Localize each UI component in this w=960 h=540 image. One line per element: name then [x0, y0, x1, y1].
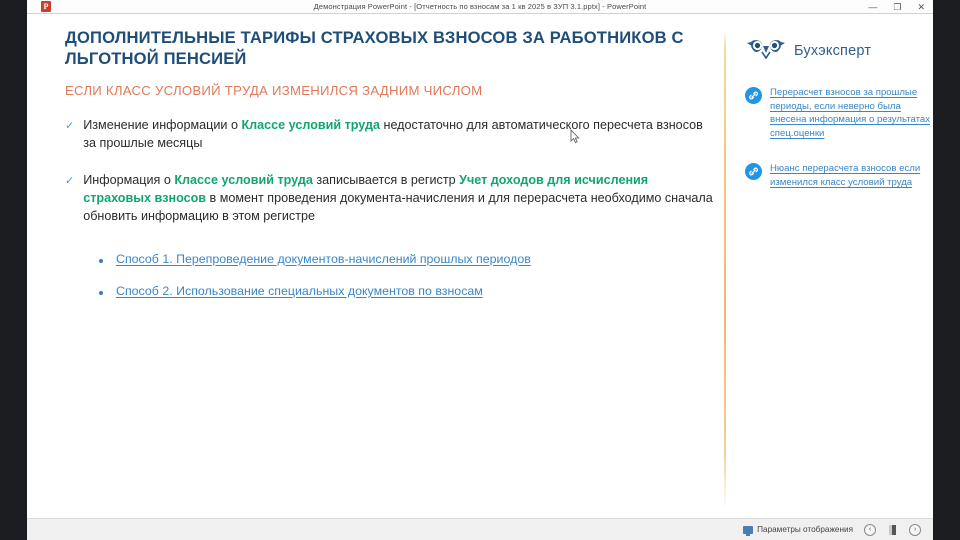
- display-options-label: Параметры отображения: [757, 525, 853, 534]
- status-bar: Параметры отображения ‹ ›: [27, 518, 933, 540]
- slide-link-item[interactable]: Способ 2. Использование специальных доку…: [99, 284, 715, 298]
- slide-title: ДОПОЛНИТЕЛЬНЫЕ ТАРИФЫ СТРАХОВЫХ ВЗНОСОВ …: [65, 27, 715, 69]
- sidebar-notes-list: Перерасчет взносов за прошлые периоды, е…: [745, 86, 931, 190]
- desktop-backdrop-left: [0, 0, 27, 540]
- link-chain-icon: [745, 163, 762, 180]
- slide-subtitle: ЕСЛИ КЛАСС УСЛОВИЙ ТРУДА ИЗМЕНИЛСЯ ЗАДНИ…: [65, 83, 715, 98]
- brand-block: Бухэксперт: [745, 37, 931, 64]
- bullet-list: ✓Изменение информации о Классе условий т…: [65, 117, 715, 225]
- window-title: Демонстрация PowerPoint - [Отчетность по…: [27, 2, 933, 11]
- bullet-item: ✓Изменение информации о Классе условий т…: [65, 117, 715, 153]
- display-options-button[interactable]: Параметры отображения: [743, 525, 853, 534]
- bullet-item: ✓Информация о Классе условий труда запис…: [65, 172, 715, 226]
- checkmark-icon: ✓: [65, 117, 74, 135]
- close-button[interactable]: ✕: [917, 0, 925, 14]
- next-slide-button[interactable]: ›: [909, 524, 921, 536]
- mouse-cursor-icon: [570, 129, 581, 149]
- slide-link-list: Способ 1. Перепроведение документов-начи…: [65, 252, 715, 298]
- sidebar-note[interactable]: Нюанс перерасчета взносов если изменился…: [745, 162, 931, 189]
- vertical-divider: [724, 30, 726, 510]
- window-controls: — ❐ ✕: [868, 0, 925, 14]
- link-chain-icon: [745, 87, 762, 104]
- slide-hyperlink[interactable]: Способ 2. Использование специальных доку…: [116, 284, 483, 298]
- desktop-backdrop-right: [933, 0, 960, 540]
- pause-slide-icon[interactable]: [887, 524, 898, 536]
- previous-slide-button[interactable]: ‹: [864, 524, 876, 536]
- minimize-button[interactable]: —: [868, 0, 877, 14]
- bullet-text: Изменение информации о Классе условий тр…: [83, 117, 715, 153]
- bullet-text: Информация о Классе условий труда записы…: [83, 172, 715, 226]
- slide-content: ДОПОЛНИТЕЛЬНЫЕ ТАРИФЫ СТРАХОВЫХ ВЗНОСОВ …: [65, 27, 715, 316]
- checkmark-icon: ✓: [65, 172, 74, 190]
- slide-canvas[interactable]: ДОПОЛНИТЕЛЬНЫЕ ТАРИФЫ СТРАХОВЫХ ВЗНОСОВ …: [27, 15, 933, 518]
- bullet-dot-icon: [99, 291, 103, 295]
- monitor-icon: [743, 526, 753, 534]
- sidebar-note[interactable]: Перерасчет взносов за прошлые периоды, е…: [745, 86, 931, 140]
- brand-name: Бухэксперт: [794, 43, 871, 59]
- slide-link-item[interactable]: Способ 1. Перепроведение документов-начи…: [99, 252, 715, 266]
- sidebar-note-link[interactable]: Нюанс перерасчета взносов если изменился…: [770, 162, 931, 189]
- powerpoint-window: P Демонстрация PowerPoint - [Отчетность …: [27, 0, 933, 540]
- maximize-button[interactable]: ❐: [893, 0, 901, 14]
- bullet-dot-icon: [99, 259, 103, 263]
- sidebar: Бухэксперт Перерасчет взносов за прошлые…: [745, 37, 931, 212]
- owl-logo-icon: [745, 37, 787, 64]
- screen-root: P Демонстрация PowerPoint - [Отчетность …: [0, 0, 960, 540]
- powerpoint-icon: P: [41, 1, 51, 12]
- slide-hyperlink[interactable]: Способ 1. Перепроведение документов-начи…: [116, 252, 531, 266]
- sidebar-note-link[interactable]: Перерасчет взносов за прошлые периоды, е…: [770, 86, 931, 140]
- title-bar: P Демонстрация PowerPoint - [Отчетность …: [27, 0, 933, 14]
